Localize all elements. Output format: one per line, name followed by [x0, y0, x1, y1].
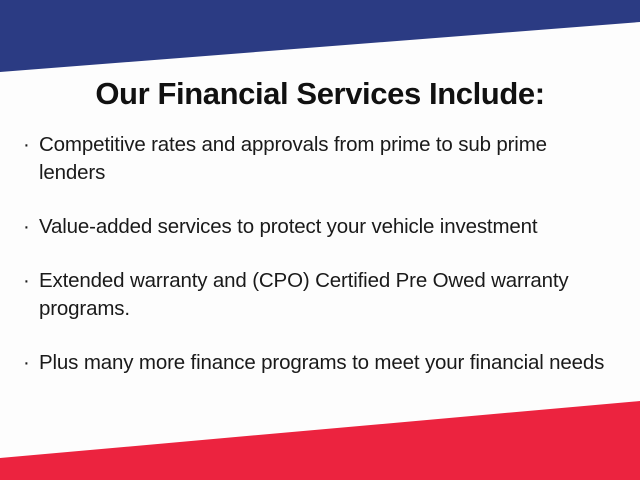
bullet-list: · Competitive rates and approvals from p… — [22, 131, 618, 377]
list-item: · Extended warranty and (CPO) Certified … — [22, 267, 618, 323]
bullet-dot-icon: · — [23, 213, 30, 241]
bullet-dot-icon: · — [23, 131, 30, 159]
list-item-label: Competitive rates and approvals from pri… — [39, 131, 618, 187]
list-item-label: Value-added services to protect your veh… — [39, 213, 618, 241]
bullet-dot-icon: · — [23, 267, 30, 295]
list-item-label: Plus many more finance programs to meet … — [39, 349, 618, 377]
list-item: · Competitive rates and approvals from p… — [22, 131, 618, 187]
red-angled-banner — [0, 401, 640, 480]
list-item-label: Extended warranty and (CPO) Certified Pr… — [39, 267, 618, 323]
bullet-dot-icon: · — [23, 349, 30, 377]
slide-canvas: Our Financial Services Include: · Compet… — [0, 0, 640, 480]
blue-angled-banner — [0, 0, 640, 72]
list-item: · Value-added services to protect your v… — [22, 213, 618, 241]
page-title: Our Financial Services Include: — [0, 76, 640, 112]
list-item: · Plus many more finance programs to mee… — [22, 349, 618, 377]
